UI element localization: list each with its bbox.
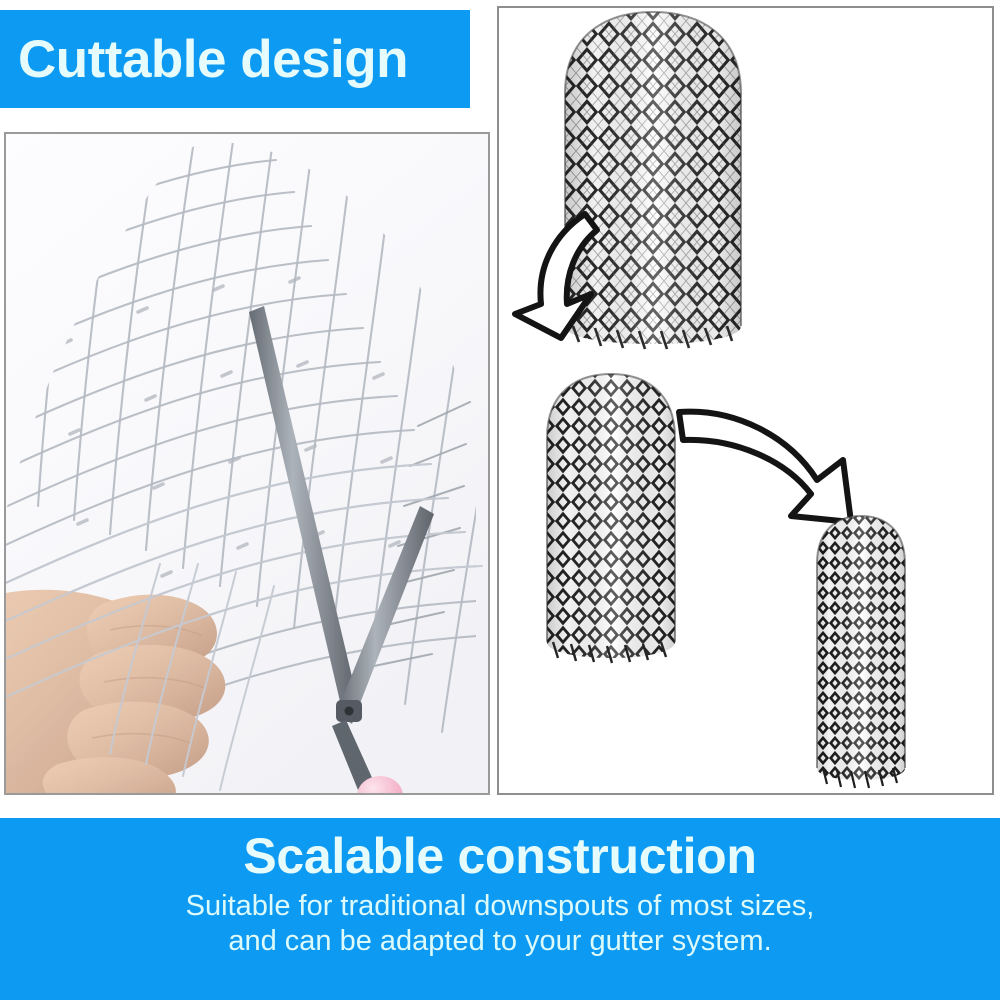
- footer-banner: Scalable construction Suitable for tradi…: [0, 818, 1000, 1000]
- header-banner: Cuttable design: [0, 10, 470, 108]
- medium-mesh-cylinder: [533, 360, 693, 680]
- right-diagram-panel: [497, 6, 994, 795]
- footer-subtitle-line-1: Suitable for traditional downspouts of m…: [186, 889, 815, 924]
- left-photo-panel: [4, 132, 490, 795]
- narrow-mesh-cylinder: [805, 504, 917, 793]
- footer-title: Scalable construction: [243, 830, 756, 883]
- product-infographic: Cuttable design: [0, 0, 1000, 1000]
- cuttable-design-photo-image: [6, 134, 488, 793]
- scalable-construction-diagram-image: [499, 8, 992, 793]
- footer-subtitle-line-2: and can be adapted to your gutter system…: [186, 924, 815, 959]
- footer-subtitle: Suitable for traditional downspouts of m…: [186, 889, 815, 960]
- page-title: Cuttable design: [18, 33, 408, 86]
